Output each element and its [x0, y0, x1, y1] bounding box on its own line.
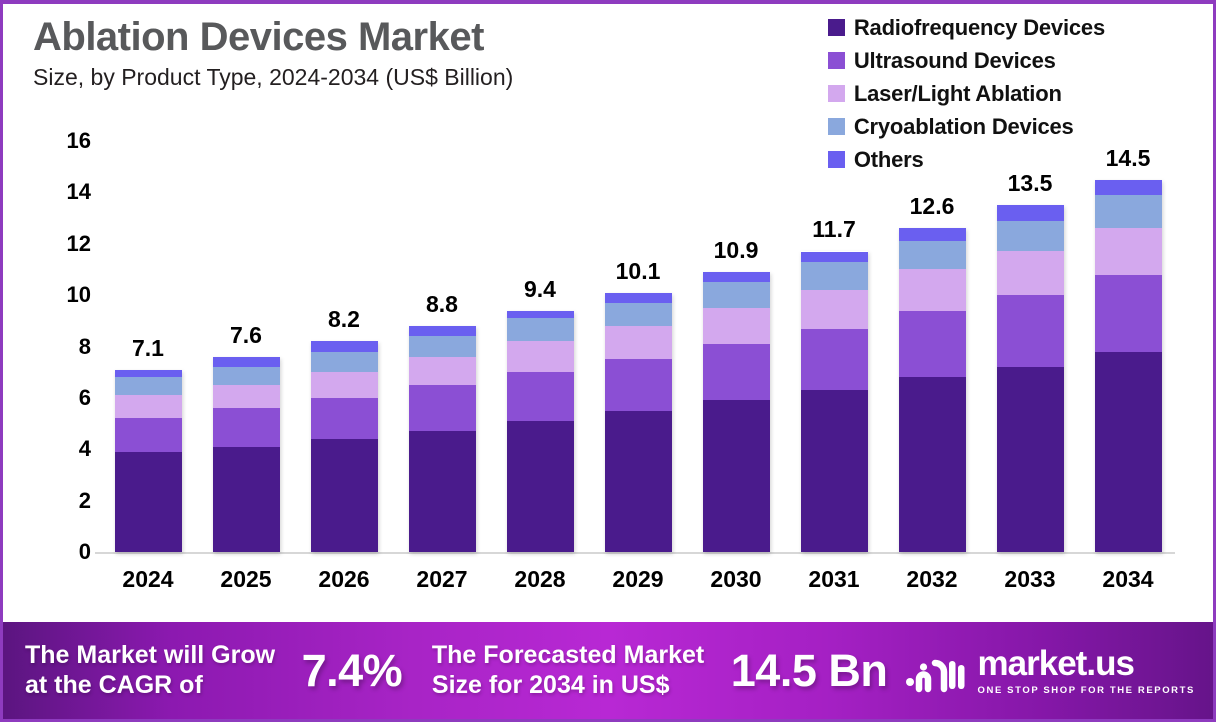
bar-segment[interactable] — [409, 357, 476, 385]
y-axis-tick-label: 14 — [43, 179, 91, 205]
logo-tagline: ONE STOP SHOP FOR THE REPORTS — [978, 685, 1195, 696]
y-axis-tick-label: 0 — [43, 539, 91, 565]
stacked-bar[interactable] — [507, 311, 574, 552]
cagr-value: 7.4% — [302, 645, 403, 697]
stacked-bar[interactable] — [1095, 180, 1162, 552]
bar-segment[interactable] — [409, 326, 476, 336]
bar-group[interactable]: 7.1 — [99, 141, 197, 552]
bar-segment[interactable] — [703, 344, 770, 401]
logo-name: market.us — [978, 646, 1134, 681]
bar-segment[interactable] — [409, 336, 476, 357]
cagr-caption-line1: The Market will Grow — [25, 641, 275, 671]
y-axis-tick-label: 4 — [43, 436, 91, 462]
bar-segment[interactable] — [1095, 195, 1162, 228]
stacked-bar[interactable] — [997, 205, 1064, 552]
bar-group[interactable]: 8.8 — [393, 141, 491, 552]
market-us-logo[interactable]: market.us ONE STOP SHOP FOR THE REPORTS — [905, 646, 1195, 696]
bar-group[interactable]: 12.6 — [883, 141, 981, 552]
bar-segment[interactable] — [605, 326, 672, 359]
forecast-value: 14.5 Bn — [731, 645, 888, 697]
bar-segment[interactable] — [311, 341, 378, 351]
bar-group[interactable]: 7.6 — [197, 141, 295, 552]
bar-segment[interactable] — [605, 411, 672, 552]
summary-banner: The Market will Grow at the CAGR of 7.4%… — [3, 622, 1213, 719]
bar-segment[interactable] — [1095, 352, 1162, 552]
bar-group[interactable]: 14.5 — [1079, 141, 1177, 552]
x-axis-tick-label: 2026 — [295, 566, 393, 593]
bar-segment[interactable] — [1095, 180, 1162, 195]
bar-series-container: 7.17.68.28.89.410.110.911.712.613.514.5 — [99, 141, 1177, 552]
y-axis-tick-label: 16 — [43, 128, 91, 154]
bar-segment[interactable] — [997, 367, 1064, 552]
bar-segment[interactable] — [311, 352, 378, 373]
bar-segment[interactable] — [1095, 228, 1162, 274]
bar-segment[interactable] — [213, 357, 280, 367]
bar-total-label: 11.7 — [785, 216, 883, 243]
cagr-caption: The Market will Grow at the CAGR of — [25, 641, 275, 700]
bar-segment[interactable] — [801, 262, 868, 290]
bar-group[interactable]: 13.5 — [981, 141, 1079, 552]
x-axis-tick-label: 2028 — [491, 566, 589, 593]
bar-segment[interactable] — [507, 372, 574, 421]
chart-plot-area: 1614121086420 7.17.68.28.89.410.110.911.… — [3, 4, 1216, 610]
bar-total-label: 7.1 — [99, 335, 197, 362]
bar-segment[interactable] — [115, 418, 182, 451]
stacked-bar[interactable] — [409, 326, 476, 552]
bar-total-label: 10.9 — [687, 237, 785, 264]
bar-segment[interactable] — [409, 385, 476, 431]
logo-wordmark: market.us ONE STOP SHOP FOR THE REPORTS — [978, 646, 1195, 696]
y-axis-tick-label: 8 — [43, 334, 91, 360]
bar-group[interactable]: 11.7 — [785, 141, 883, 552]
bar-segment[interactable] — [997, 205, 1064, 220]
bar-segment[interactable] — [115, 452, 182, 552]
bar-total-label: 7.6 — [197, 322, 295, 349]
bar-segment[interactable] — [507, 311, 574, 319]
bar-segment[interactable] — [311, 372, 378, 398]
bar-total-label: 9.4 — [491, 276, 589, 303]
bar-total-label: 8.8 — [393, 291, 491, 318]
bar-segment[interactable] — [801, 329, 868, 391]
bar-segment[interactable] — [899, 228, 966, 241]
bar-segment[interactable] — [801, 252, 868, 262]
stacked-bar[interactable] — [801, 251, 868, 552]
bar-segment[interactable] — [409, 431, 476, 552]
bar-total-label: 13.5 — [981, 170, 1079, 197]
x-axis-tick-label: 2025 — [197, 566, 295, 593]
bar-segment[interactable] — [507, 421, 574, 552]
bar-group[interactable]: 10.1 — [589, 141, 687, 552]
bar-segment[interactable] — [997, 221, 1064, 252]
stacked-bar[interactable] — [311, 341, 378, 552]
y-axis: 1614121086420 — [43, 129, 91, 564]
bar-total-label: 14.5 — [1079, 145, 1177, 172]
x-axis-tick-label: 2027 — [393, 566, 491, 593]
bar-group[interactable]: 8.2 — [295, 141, 393, 552]
bar-segment[interactable] — [115, 370, 182, 378]
forecast-caption-line1: The Forecasted Market — [432, 641, 704, 671]
bar-segment[interactable] — [899, 311, 966, 378]
bar-segment[interactable] — [213, 385, 280, 408]
bar-total-label: 8.2 — [295, 306, 393, 333]
bar-segment[interactable] — [997, 295, 1064, 367]
bar-segment[interactable] — [605, 303, 672, 326]
bar-segment[interactable] — [115, 395, 182, 418]
bar-segment[interactable] — [703, 400, 770, 552]
y-axis-tick-label: 12 — [43, 231, 91, 257]
stacked-bar[interactable] — [899, 228, 966, 552]
bar-segment[interactable] — [605, 359, 672, 410]
x-axis-tick-label: 2032 — [883, 566, 981, 593]
bar-total-label: 12.6 — [883, 193, 981, 220]
stacked-bar[interactable] — [703, 272, 770, 552]
bar-segment[interactable] — [311, 439, 378, 552]
x-axis-tick-label: 2034 — [1079, 566, 1177, 593]
bar-segment[interactable] — [213, 367, 280, 385]
bar-group[interactable]: 10.9 — [687, 141, 785, 552]
bar-segment[interactable] — [213, 408, 280, 447]
forecast-caption: The Forecasted Market Size for 2034 in U… — [432, 641, 704, 700]
bar-group[interactable]: 9.4 — [491, 141, 589, 552]
cagr-caption-line2: at the CAGR of — [25, 671, 275, 701]
bar-segment[interactable] — [703, 308, 770, 344]
x-axis-line — [95, 552, 1175, 554]
stacked-bar[interactable] — [213, 357, 280, 552]
x-axis-tick-label: 2033 — [981, 566, 1079, 593]
bar-segment[interactable] — [311, 398, 378, 439]
y-axis-tick-label: 6 — [43, 385, 91, 411]
bar-segment[interactable] — [899, 241, 966, 269]
bar-segment[interactable] — [115, 377, 182, 395]
x-axis-tick-label: 2024 — [99, 566, 197, 593]
forecast-caption-line2: Size for 2034 in US$ — [432, 671, 704, 701]
bar-segment[interactable] — [703, 282, 770, 308]
bar-segment[interactable] — [997, 251, 1064, 295]
x-axis-tick-label: 2030 — [687, 566, 785, 593]
bar-segment[interactable] — [899, 377, 966, 552]
bar-segment[interactable] — [1095, 275, 1162, 352]
bar-segment[interactable] — [507, 341, 574, 372]
bar-segment[interactable] — [899, 269, 966, 310]
bar-segment[interactable] — [507, 318, 574, 341]
infographic-root: Ablation Devices Market Size, by Product… — [0, 0, 1216, 722]
x-axis-tick-label: 2031 — [785, 566, 883, 593]
bar-segment[interactable] — [801, 390, 868, 552]
bar-segment[interactable] — [703, 272, 770, 282]
x-axis-tick-label: 2029 — [589, 566, 687, 593]
bar-segment[interactable] — [605, 293, 672, 303]
bar-total-label: 10.1 — [589, 258, 687, 285]
bar-segment[interactable] — [213, 447, 280, 552]
y-axis-tick-label: 2 — [43, 488, 91, 514]
x-axis-labels: 2024202520262027202820292030203120322033… — [99, 566, 1177, 593]
stacked-bar[interactable] — [605, 293, 672, 552]
stacked-bar[interactable] — [115, 370, 182, 552]
y-axis-tick-label: 10 — [43, 282, 91, 308]
market-us-logomark-icon — [905, 649, 965, 693]
bar-segment[interactable] — [801, 290, 868, 329]
